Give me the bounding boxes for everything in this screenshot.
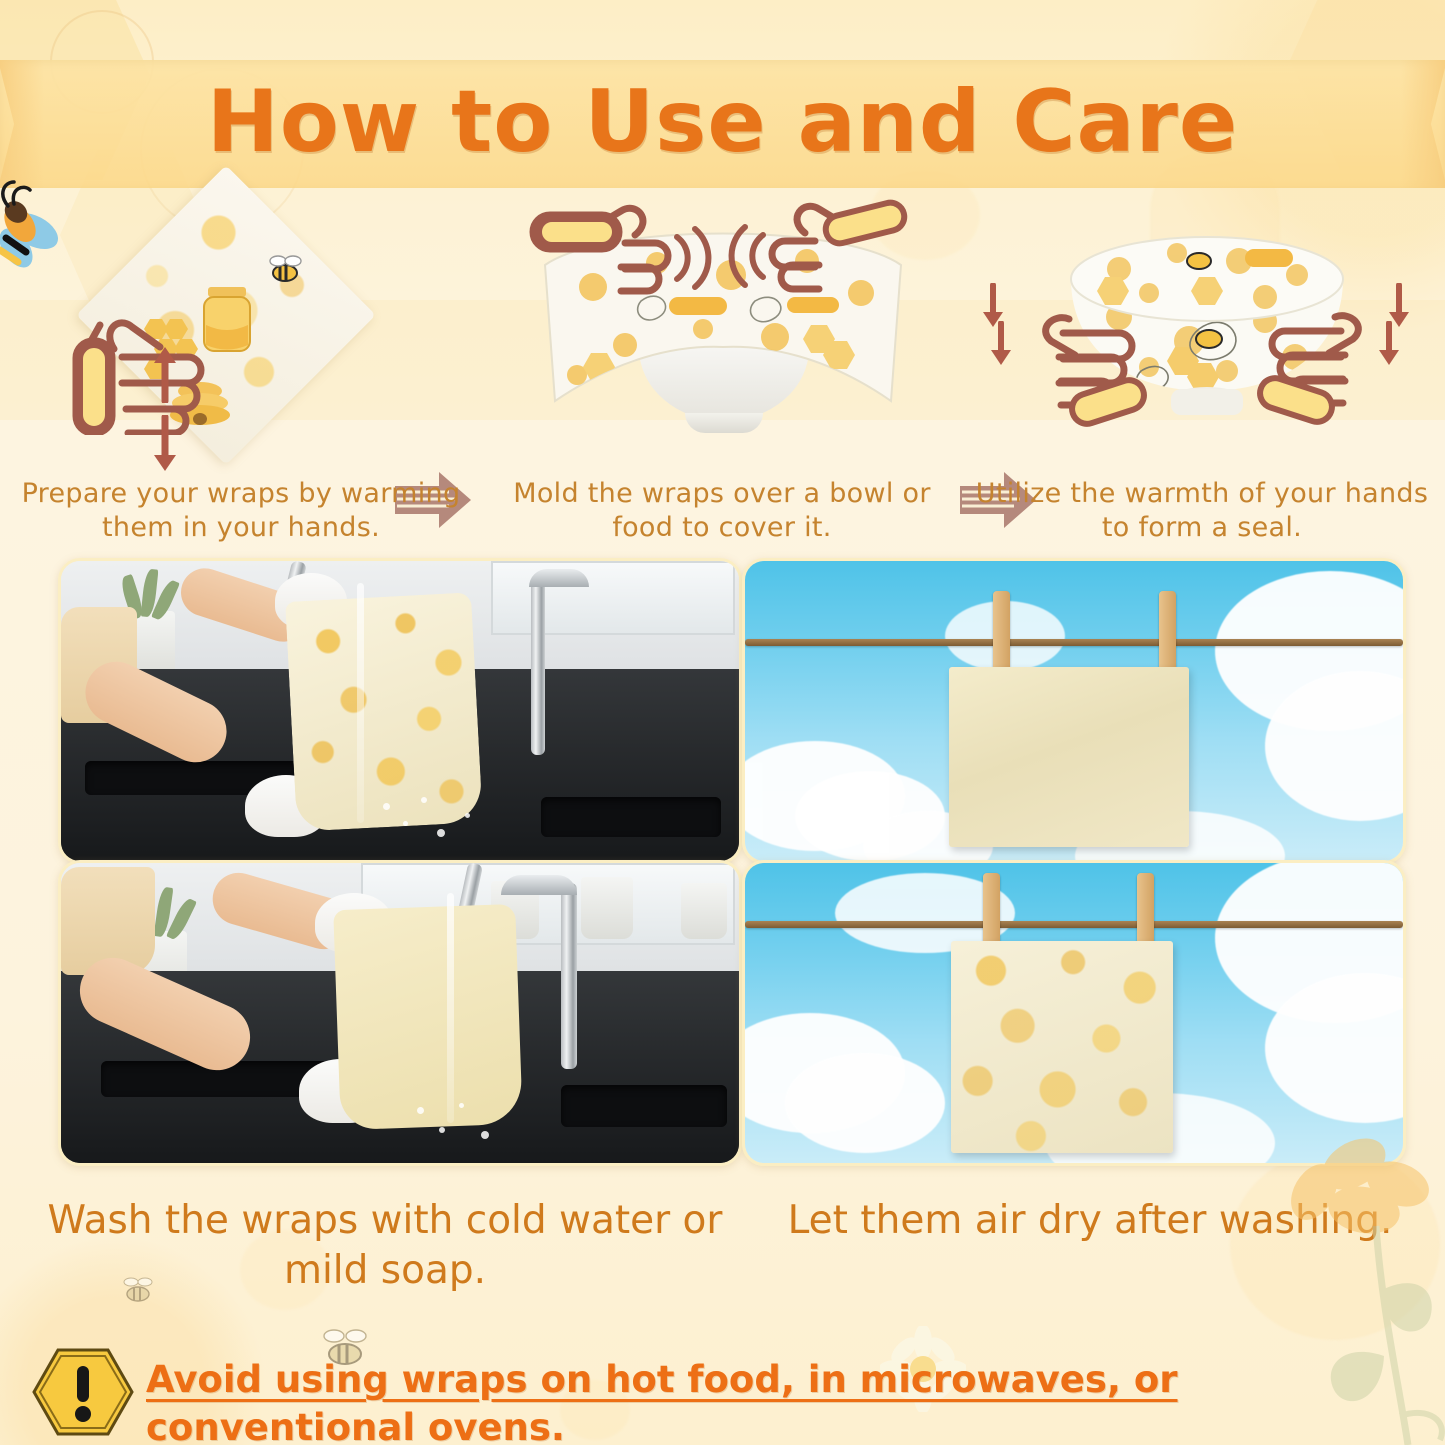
photo-patterned-wrap-drying bbox=[742, 860, 1406, 1166]
warning-bar: Avoid using wraps on hot food, in microw… bbox=[0, 1340, 1445, 1445]
page-title: How to Use and Care bbox=[0, 72, 1445, 172]
step-2-caption: Mold the wraps over a bowl or food to co… bbox=[487, 477, 957, 545]
down-arrow-icon bbox=[1377, 321, 1401, 367]
bee-icon bbox=[118, 1272, 158, 1308]
steps-row: Prepare your wraps by warming them in yo… bbox=[0, 185, 1445, 545]
infographic-page: How to Use and Care bbox=[0, 0, 1445, 1445]
down-arrow-icon bbox=[152, 415, 178, 473]
hanging-wrap bbox=[949, 667, 1189, 847]
bee-motif bbox=[262, 253, 308, 287]
down-arrow-icon bbox=[989, 321, 1013, 367]
hand-icon bbox=[62, 285, 232, 435]
step-2-illustration bbox=[487, 185, 957, 475]
hand-icon bbox=[517, 195, 717, 315]
hand-icon bbox=[713, 189, 923, 313]
hanging-wrap bbox=[951, 941, 1173, 1153]
hand-icon bbox=[1017, 291, 1167, 431]
photo-grid bbox=[0, 556, 1445, 1166]
step-3-illustration bbox=[967, 185, 1437, 475]
warning-hexagon-icon bbox=[32, 1346, 134, 1438]
step-3-caption: Utilize the warmth of your hands to form… bbox=[967, 477, 1437, 545]
warning-text: Avoid using wraps on hot food, in microw… bbox=[146, 1356, 1436, 1445]
photo-washing-patterned-wrap bbox=[58, 558, 742, 864]
hand-icon bbox=[1237, 289, 1387, 431]
step-1-caption: Prepare your wraps by warming them in yo… bbox=[6, 477, 476, 545]
up-arrow-icon bbox=[152, 345, 178, 403]
photo-plain-wrap-drying bbox=[742, 558, 1406, 864]
photo-washing-plain-wrap bbox=[58, 860, 742, 1166]
step-1-illustration bbox=[10, 185, 480, 475]
